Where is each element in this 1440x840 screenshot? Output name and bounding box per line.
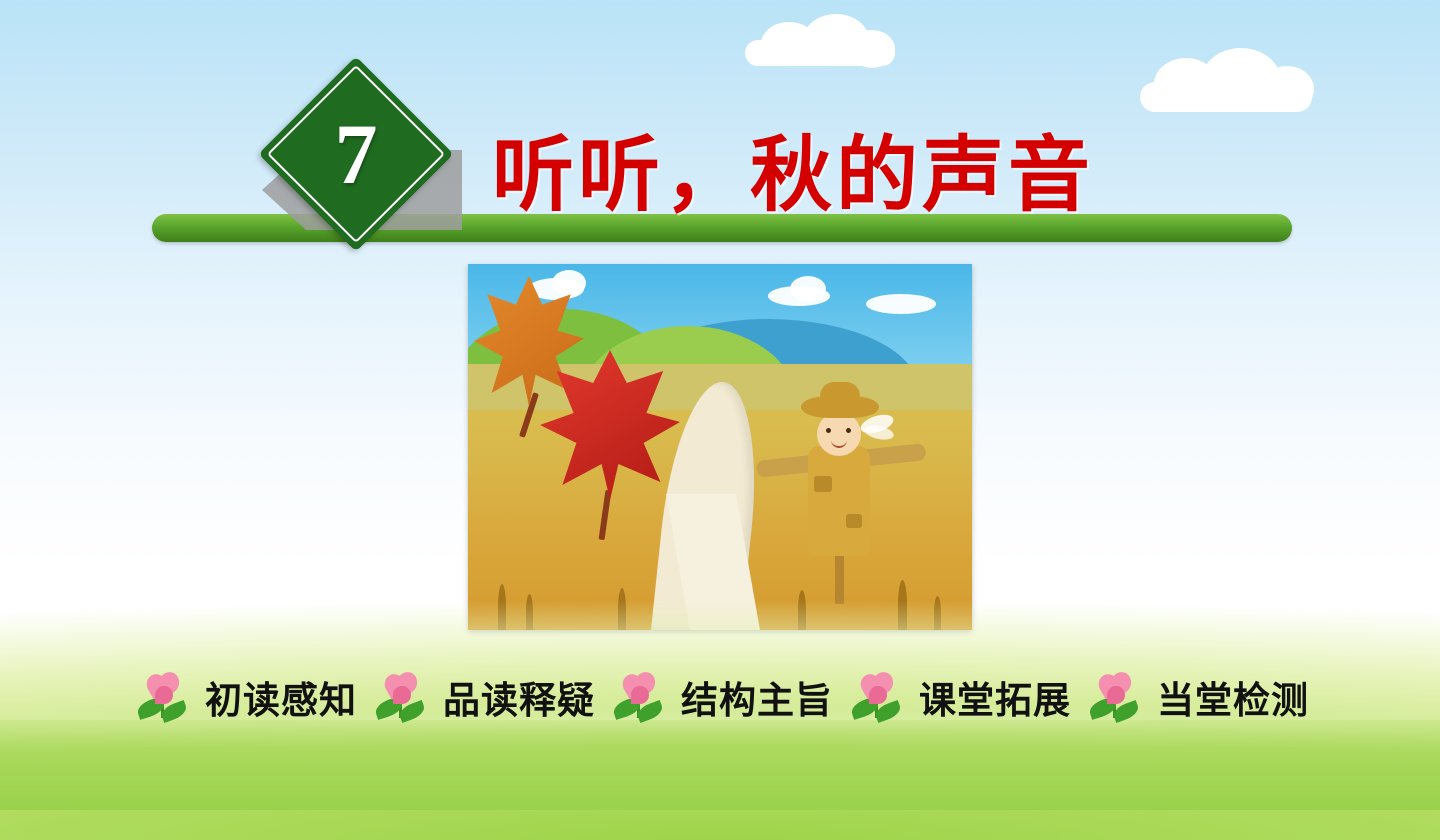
lesson-number: 7: [287, 85, 425, 223]
scarecrow-hat-brim: [801, 396, 879, 418]
flower-icon: [131, 670, 193, 724]
illustration-cloud-4: [790, 276, 826, 302]
scarecrow-patch-2: [846, 514, 862, 528]
cloud-top-right: [1140, 48, 1320, 118]
nav-item-3[interactable]: 结构主旨: [675, 670, 839, 724]
section-nav: 初读感知 品读释疑 结构主旨 课堂拓展 当堂检测: [0, 662, 1440, 732]
nav-item-1[interactable]: 初读感知: [199, 670, 363, 724]
illustration-cloud-5: [866, 294, 936, 314]
flower-icon: [607, 670, 669, 724]
flower-icon: [845, 670, 907, 724]
scarecrow-eye-left: [826, 428, 831, 433]
page-title: 听听，秋的声音: [492, 108, 1094, 227]
cloud-top-center: [745, 14, 905, 72]
scarecrow-head: [817, 412, 861, 456]
ground-strip: [0, 720, 1440, 810]
autumn-field-scarecrow-illustration: [468, 264, 972, 630]
scarecrow-body: [808, 446, 870, 556]
scarecrow-eye-right: [846, 428, 851, 433]
flower-icon: [1083, 670, 1145, 724]
illustration-cloud-2: [552, 270, 586, 296]
nav-item-4[interactable]: 课堂拓展: [913, 670, 1077, 724]
flower-icon: [369, 670, 431, 724]
nav-item-5[interactable]: 当堂检测: [1151, 670, 1315, 724]
nav-item-2[interactable]: 品读释疑: [437, 670, 601, 724]
scarecrow-patch-1: [814, 476, 832, 492]
